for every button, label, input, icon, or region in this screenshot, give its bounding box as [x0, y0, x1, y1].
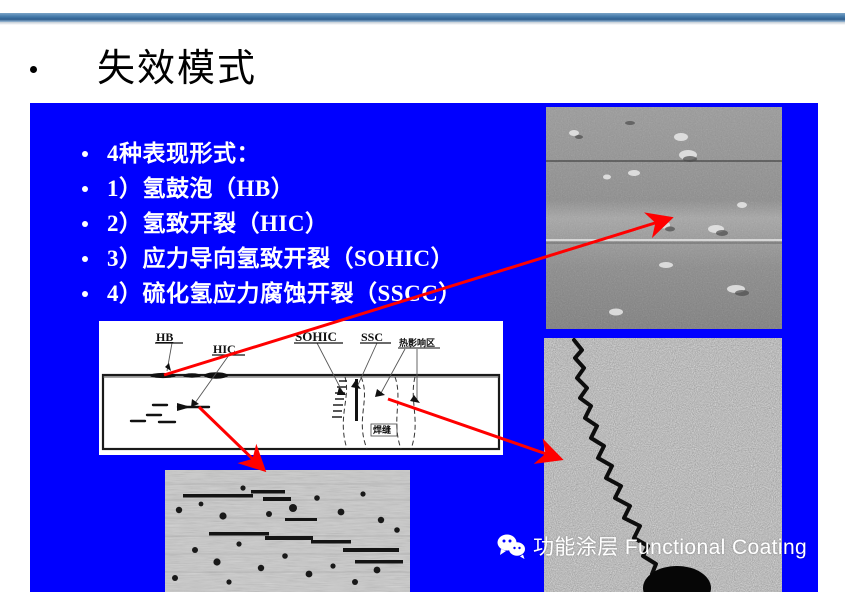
hic-stepwise-crack-micrograph [165, 470, 410, 592]
content-panel: 4种表现形式： 1）氢鼓泡（HB） 2）氢致开裂（HIC） 3）应力导向氢致开裂… [30, 103, 818, 592]
watermark: 功能涂层 Functional Coating [496, 531, 807, 561]
page-title: 失效模式 [97, 50, 257, 88]
list-item-label: 3）应力导向氢致开裂（SOHIC） [107, 244, 454, 274]
diagram-label-ssc: SSC [361, 330, 383, 344]
list-bullet-icon [82, 291, 88, 297]
diagram-label-haz: 热影响区 [399, 337, 435, 348]
diagram-label-hb: HB [156, 330, 173, 344]
hydrogen-blister-photo [546, 107, 782, 329]
weld-cross-section-diagram: HB HIC SOHIC SSC 热影响区 焊缝 [99, 321, 503, 455]
header-accent-bar [0, 13, 845, 22]
list-item-label: 4种表现形式： [107, 139, 260, 169]
list-item: 1）氢鼓泡（HB） [82, 174, 522, 204]
watermark-label: 功能涂层 Functional Coating [533, 531, 807, 561]
list-item: 3）应力导向氢致开裂（SOHIC） [82, 244, 522, 274]
list-item-label: 2）氢致开裂（HIC） [107, 209, 328, 239]
list-item: 4种表现形式： [82, 139, 522, 169]
list-bullet-icon [82, 151, 88, 157]
list-bullet-icon [82, 221, 88, 227]
diagram-label-hic: HIC [213, 342, 236, 356]
list-item-label: 4）硫化氢应力腐蚀开裂（SSCC） [107, 279, 462, 309]
header-accent-bar-shadow [0, 22, 845, 25]
list-bullet-icon [82, 256, 88, 262]
title-bullet-icon [30, 66, 37, 73]
list-item: 4）硫化氢应力腐蚀开裂（SSCC） [82, 279, 522, 309]
wechat-icon [496, 533, 526, 559]
diagram-label-sohic: SOHIC [295, 329, 337, 344]
list-item: 2）氢致开裂（HIC） [82, 209, 522, 239]
list-bullet-icon [82, 186, 88, 192]
list-item-label: 1）氢鼓泡（HB） [107, 174, 294, 204]
diagram-label-weld: 焊缝 [373, 424, 391, 435]
slide-title-row: 失效模式 [30, 40, 530, 98]
failure-mode-list: 4种表现形式： 1）氢鼓泡（HB） 2）氢致开裂（HIC） 3）应力导向氢致开裂… [82, 139, 522, 314]
